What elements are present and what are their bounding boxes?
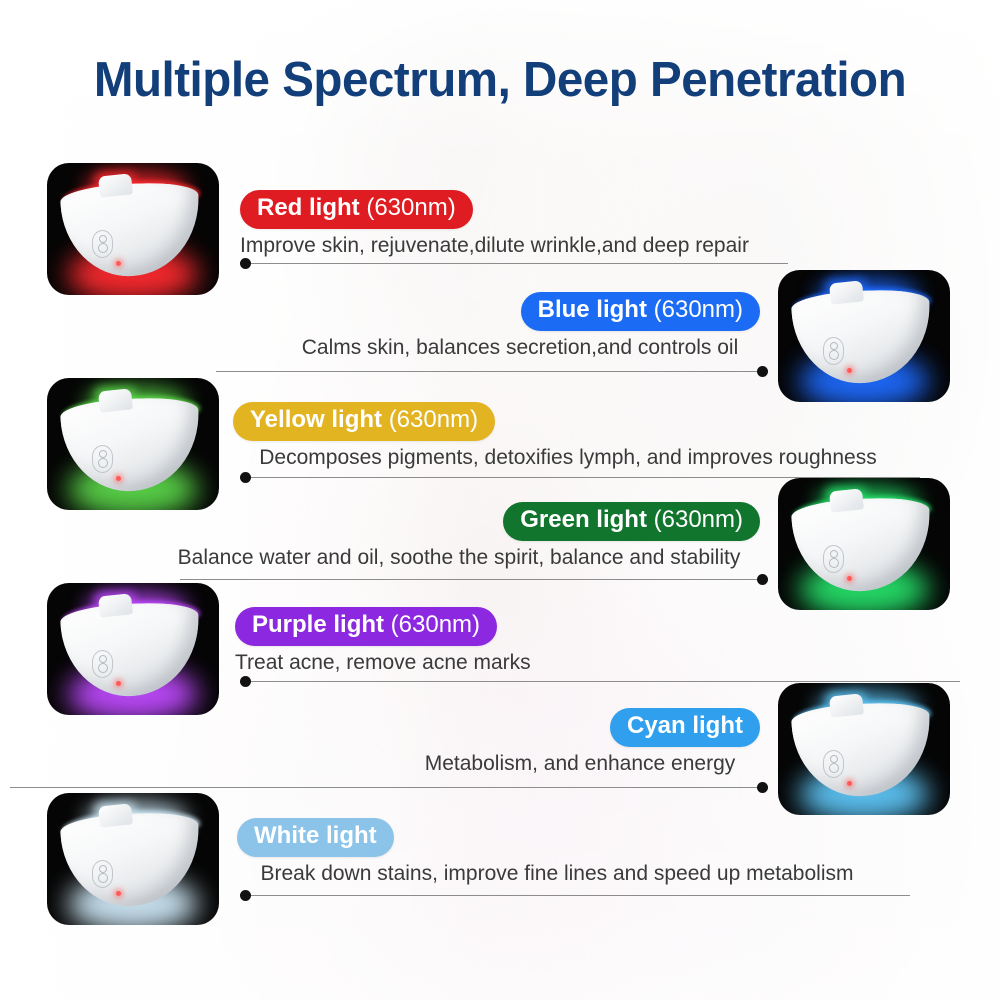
device-top-nub bbox=[829, 488, 864, 512]
device-thumbnail-blue bbox=[778, 270, 950, 402]
red-led-indicator bbox=[116, 476, 121, 481]
badge-purple-light[interactable]: Purple light (630nm) bbox=[235, 607, 497, 646]
red-led-indicator bbox=[847, 781, 852, 786]
badge-label: Yellow light bbox=[250, 406, 382, 433]
badge-wavelength: (630nm) bbox=[654, 506, 743, 533]
description-purple: Treat acne, remove acne marks bbox=[235, 651, 780, 675]
connector-blue bbox=[216, 365, 768, 379]
description-green: Balance water and oil, soothe the spirit… bbox=[158, 546, 760, 570]
device-thumbnail-yellow bbox=[47, 378, 219, 510]
device-top-nub bbox=[98, 388, 133, 412]
row-blue: Blue light (630nm) Calms skin, balances … bbox=[280, 292, 760, 360]
badge-blue-light[interactable]: Blue light (630nm) bbox=[521, 292, 760, 331]
badge-label: White light bbox=[254, 822, 377, 849]
red-led-indicator bbox=[116, 891, 121, 896]
power-logo-icon bbox=[92, 445, 113, 473]
device-thumbnail-green bbox=[778, 478, 950, 610]
device-top-nub bbox=[98, 173, 133, 197]
power-logo-icon bbox=[92, 230, 113, 258]
badge-wavelength: (630nm) bbox=[391, 611, 480, 638]
row-white: White light Break down stains, improve f… bbox=[237, 818, 877, 886]
badge-label: Cyan light bbox=[627, 712, 743, 739]
connector-green bbox=[180, 573, 768, 587]
row-yellow: Yellow light (630nm) Decomposes pigments… bbox=[233, 402, 903, 470]
badge-cyan-light[interactable]: Cyan light bbox=[610, 708, 760, 747]
device-thumbnail-cyan bbox=[778, 683, 950, 815]
connector-white bbox=[240, 889, 910, 903]
badge-label: Blue light bbox=[538, 296, 647, 323]
badge-wavelength: (630nm) bbox=[389, 406, 478, 433]
row-purple: Purple light (630nm) Treat acne, remove … bbox=[235, 607, 780, 675]
page-title: Multiple Spectrum, Deep Penetration bbox=[15, 52, 985, 108]
device-top-nub bbox=[98, 803, 133, 827]
row-red: Red light (630nm) Improve skin, rejuvena… bbox=[240, 190, 785, 258]
description-red: Improve skin, rejuvenate,dilute wrinkle,… bbox=[240, 234, 785, 258]
badge-label: Red light bbox=[257, 194, 360, 221]
badge-red-light[interactable]: Red light (630nm) bbox=[240, 190, 473, 229]
power-logo-icon bbox=[823, 750, 844, 778]
badge-label: Purple light bbox=[252, 611, 384, 638]
badge-white-light[interactable]: White light bbox=[237, 818, 394, 857]
device-thumbnail-white bbox=[47, 793, 219, 925]
row-cyan: Cyan light Metabolism, and enhance energ… bbox=[400, 708, 760, 776]
description-white: Break down stains, improve fine lines an… bbox=[237, 862, 877, 886]
badge-green-light[interactable]: Green light (630nm) bbox=[503, 502, 760, 541]
connector-red bbox=[240, 257, 788, 271]
red-led-indicator bbox=[116, 681, 121, 686]
power-logo-icon bbox=[823, 337, 844, 365]
badge-label: Green light bbox=[520, 506, 647, 533]
badge-wavelength: (630nm) bbox=[654, 296, 743, 323]
power-logo-icon bbox=[92, 650, 113, 678]
device-top-nub bbox=[829, 280, 864, 304]
description-blue: Calms skin, balances secretion,and contr… bbox=[280, 336, 760, 360]
device-top-nub bbox=[98, 593, 133, 617]
device-thumbnail-purple bbox=[47, 583, 219, 715]
power-logo-icon bbox=[823, 545, 844, 573]
device-top-nub bbox=[829, 693, 864, 717]
device-thumbnail-red bbox=[47, 163, 219, 295]
red-led-indicator bbox=[847, 576, 852, 581]
power-logo-icon bbox=[92, 860, 113, 888]
description-yellow: Decomposes pigments, detoxifies lymph, a… bbox=[233, 446, 903, 470]
description-cyan: Metabolism, and enhance energy bbox=[400, 752, 760, 776]
row-green: Green light (630nm) Balance water and oi… bbox=[158, 502, 760, 570]
red-led-indicator bbox=[847, 368, 852, 373]
red-led-indicator bbox=[116, 261, 121, 266]
badge-yellow-light[interactable]: Yellow light (630nm) bbox=[233, 402, 495, 441]
badge-wavelength: (630nm) bbox=[366, 194, 455, 221]
